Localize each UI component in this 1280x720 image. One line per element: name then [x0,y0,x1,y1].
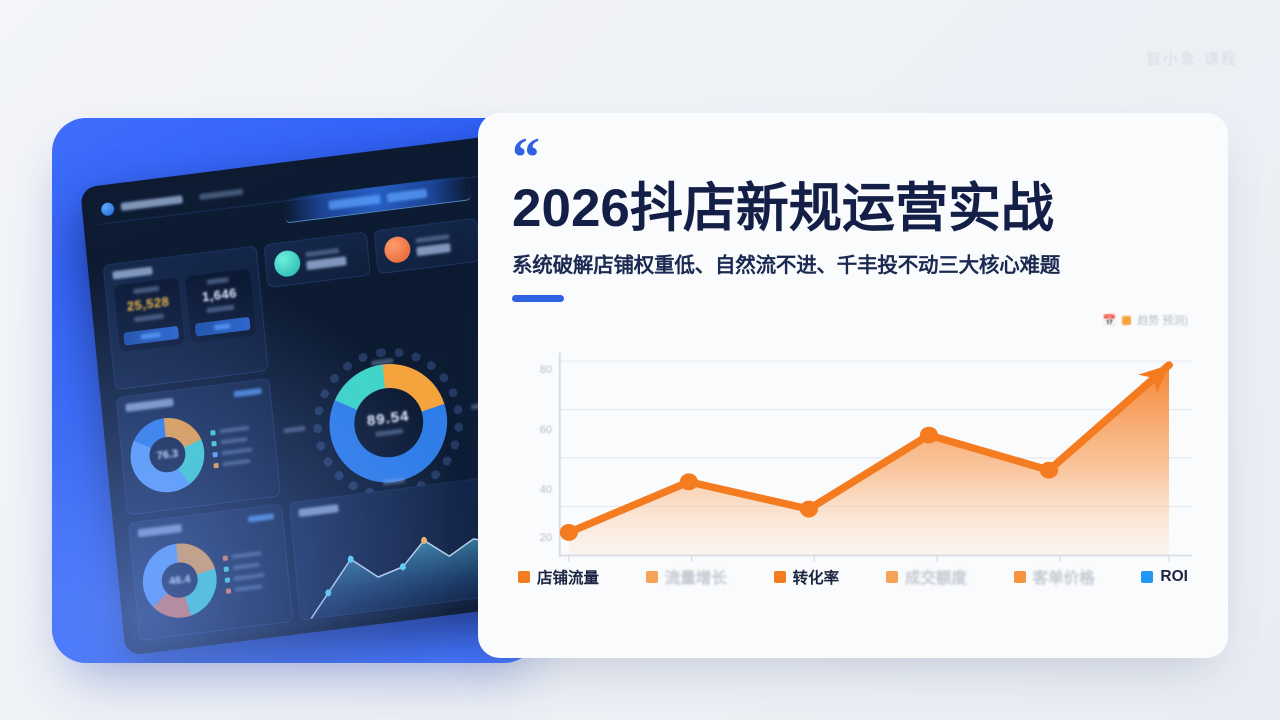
kpi-button[interactable] [195,317,251,337]
kpi-button-label [141,332,161,339]
kpi-sub [134,313,164,322]
donut-center-value: 46.4 [139,539,220,622]
analytics-logo-icon [101,201,115,216]
pill-value [306,256,347,270]
chart-data-point [560,524,578,541]
legend-swatch [886,571,898,583]
corner-legend-label: 趋势 预测) [1137,312,1188,328]
donut-action[interactable] [233,388,261,397]
dashboard-screen: 25,528 1,646 [87,125,538,650]
legend-swatch [1141,571,1153,583]
legend-swatch [1014,571,1026,583]
legend-item[interactable]: 客单价格 [1014,566,1095,588]
pill-label [415,234,449,243]
dashboard-mockup: 25,528 1,646 [80,118,538,656]
donut-card-traffic-source: 76.3 [116,378,281,516]
legend-item[interactable]: 成交额度 [886,566,967,588]
header-chip-title-2 [386,188,427,202]
dashboard-title [121,195,183,211]
page-title: 2026抖店新规运营实战 [512,181,1194,236]
dashboard-frame: 25,528 1,646 [80,118,538,656]
calendar-icon: 📅 [1103,314,1117,327]
donut-legend [223,551,266,594]
chart-area-fill [569,365,1169,556]
dashboard-preview-panel: 25,528 1,646 [52,118,538,663]
chart-data-point [920,427,938,444]
legend-label: 流量增长 [665,566,727,588]
legend-label: ROI [1160,568,1188,586]
kpi-value: 1,646 [201,285,237,304]
chart-series [560,356,1179,556]
kpi-card: 25,528 1,646 [103,245,269,390]
donut-title [125,398,173,412]
pill-card [263,231,370,288]
legend-item[interactable]: 转化率 [774,566,840,588]
kpi-label [134,286,160,294]
page-subtitle: 系统破解店铺权重低、自然流不进、千丰投不动三大核心难题 [512,248,1194,278]
kpi-item: 25,528 [114,277,185,352]
mini-area-chart [299,498,504,620]
pill-value [416,243,451,256]
x-tick-marks [569,556,1169,562]
kpi-button[interactable] [123,326,179,346]
chart-data-point [680,474,698,491]
kpi-button-label [214,323,230,330]
legend-label: 成交额度 [905,566,967,588]
legend-swatch [518,571,530,583]
donut-action[interactable] [248,513,274,522]
donut-chart: 76.3 [127,413,208,496]
kpi-card-title [112,267,152,280]
legend-item[interactable]: 流量增长 [646,566,727,588]
donut-title [138,524,182,537]
gauge-center: 89.54 [276,350,501,495]
donut-card-products: 46.4 [128,503,293,641]
donut-legend [210,425,253,468]
dashboard-grid: 25,528 1,646 [99,164,538,641]
kpi-label [207,277,229,285]
growth-chart: 📅 趋势 预测) 80 60 40 20 0 [512,316,1194,616]
quote-mark-icon: “ [512,141,1194,175]
pill-label [305,248,339,257]
legend-label: 店铺流量 [537,566,599,588]
pill-card [373,218,480,275]
gauge-value: 89.54 [366,408,410,430]
legend-swatch [646,571,658,583]
kpi-value: 25,528 [126,294,170,314]
legend-swatch [774,571,786,583]
watermark: 智小象·课程 [1146,48,1238,69]
chart-data-point [1040,462,1058,479]
pill-cards-row [263,218,489,370]
corner-legend-swatch [1122,316,1131,325]
legend-label: 客单价格 [1033,566,1095,588]
chart-plot-area [512,338,1194,580]
gauge-caption [375,428,403,436]
hero-content-card: “ 2026抖店新规运营实战 系统破解店铺权重低、自然流不进、千丰投不动三大核心… [478,113,1228,658]
chart-corner-legend: 📅 趋势 预测) [1103,312,1188,328]
chart-data-point [800,501,818,518]
donut-center-value: 76.3 [127,413,208,496]
accent-bar [512,295,564,302]
gauge-card: 89.54 [276,350,501,495]
donut-chart: 46.4 [139,539,220,622]
legend-item[interactable]: ROI [1141,568,1188,586]
chart-circle-icon [273,249,301,278]
legend-label: 转化率 [793,566,840,588]
header-chip-title [328,194,380,209]
kpi-item: 1,646 [185,268,256,343]
kpi-sub [207,305,235,313]
chart-svg [512,338,1194,580]
dashboard-subtitle [199,189,243,200]
chart-legend: 店铺流量 流量增长 转化率 成交额度 客单价格 ROI [512,566,1194,588]
user-circle-icon [383,235,411,264]
area-chart-title [298,504,338,517]
legend-item[interactable]: 店铺流量 [518,566,599,588]
